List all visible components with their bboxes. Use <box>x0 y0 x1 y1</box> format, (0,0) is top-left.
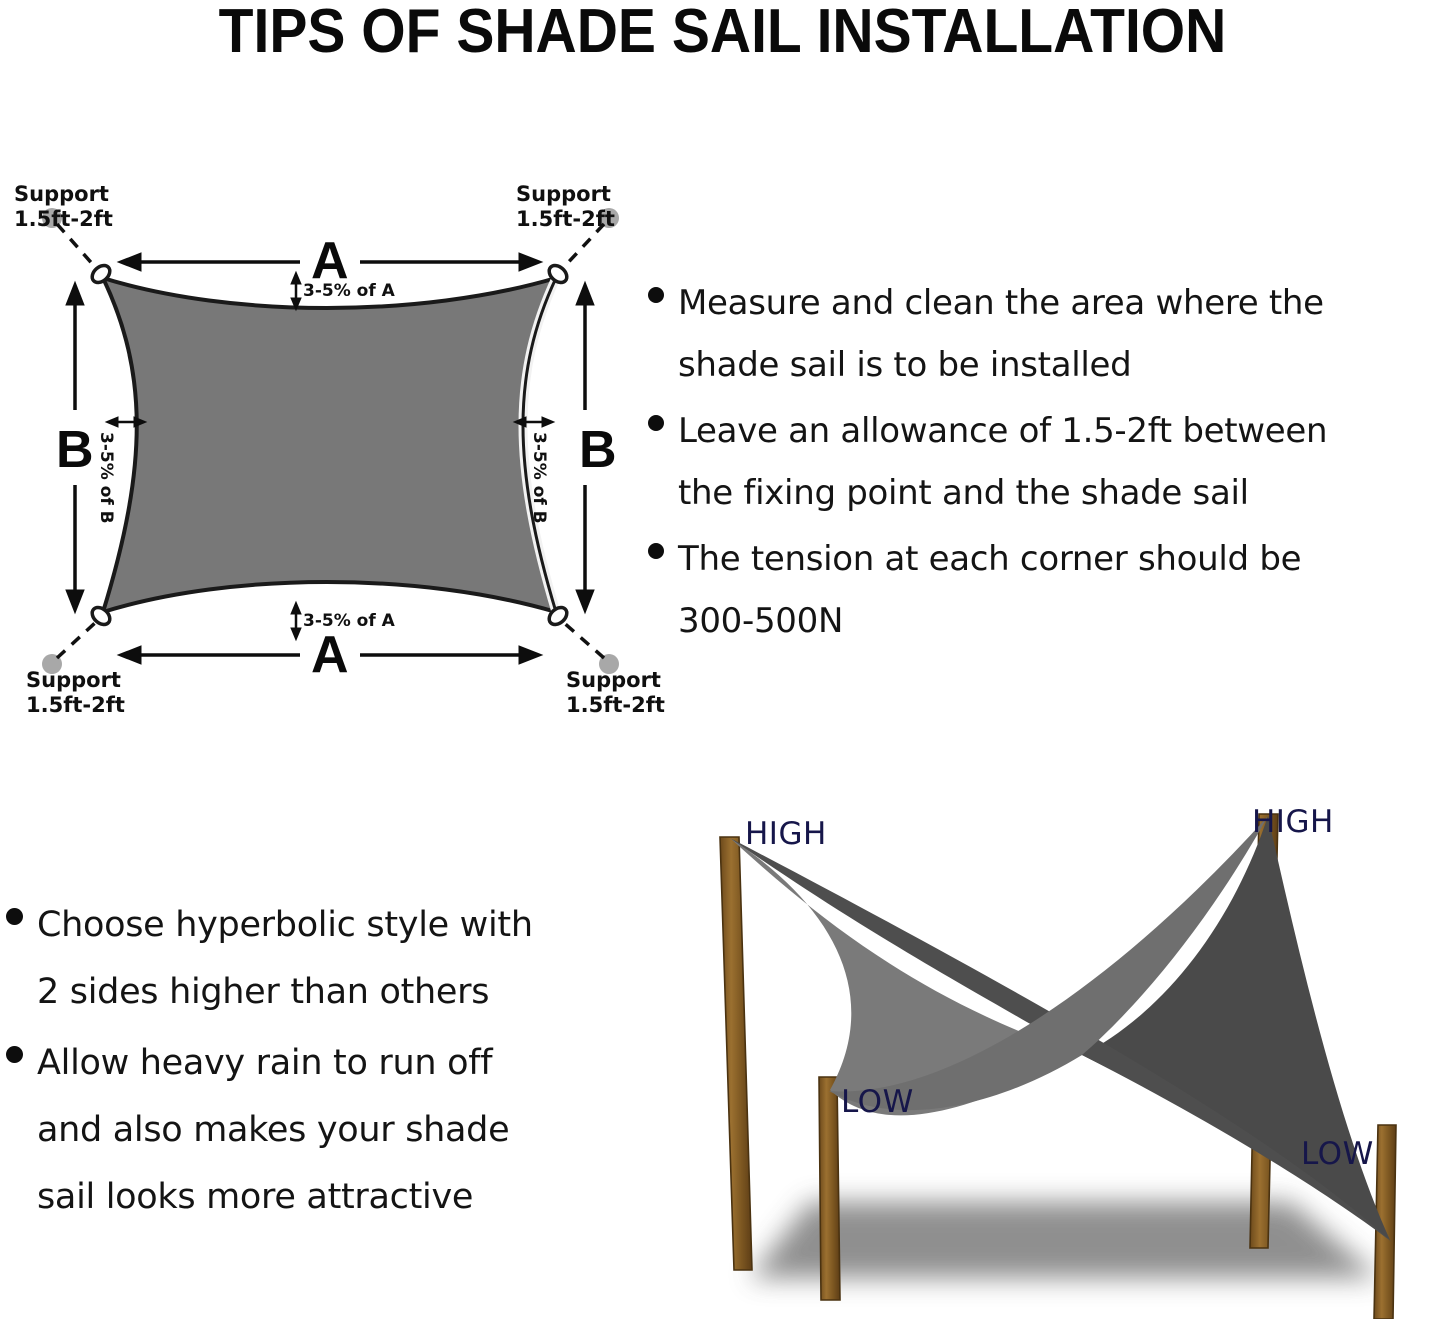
support-label-line1: Support <box>14 182 109 206</box>
label-low-right: LOW <box>1301 1136 1374 1172</box>
sag-arrow-top <box>291 272 301 310</box>
hyperbolic-style-tips-list: Choose hyperbolic style with2 sides high… <box>6 892 636 1235</box>
support-label-line2: 1.5ft-2ft <box>14 207 113 232</box>
list-item-text: Choose hyperbolic style with2 sides high… <box>37 892 533 1026</box>
list-item-text: Measure and clean the area where theshad… <box>678 272 1324 396</box>
support-label-line1: Support <box>516 182 611 206</box>
dim-letter-b-right: B <box>579 424 617 476</box>
sail-body <box>103 278 556 612</box>
sag-arrow-bottom <box>291 602 301 640</box>
bullet-dot-icon <box>6 1046 23 1063</box>
post-low-left <box>819 1077 840 1300</box>
list-item: The tension at each corner should be300-… <box>648 528 1445 652</box>
post-high-left <box>720 837 752 1270</box>
label-low-left: LOW <box>841 1084 914 1120</box>
pct-label-right: 3-5% of B <box>530 432 547 524</box>
list-item-text: The tension at each corner should be300-… <box>678 528 1301 652</box>
ground-shadow <box>750 1202 1380 1278</box>
dim-letter-b-left: B <box>56 424 94 476</box>
support-label-bottom-right: Support 1.5ft-2ft <box>566 668 665 718</box>
support-label-line2: 1.5ft-2ft <box>566 693 665 718</box>
pct-label-top: 3-5% of A <box>303 283 395 300</box>
bullet-dot-icon <box>648 415 664 431</box>
list-item-text: Leave an allowance of 1.5-2ft betweenthe… <box>678 400 1327 524</box>
support-label-top-left: Support 1.5ft-2ft <box>14 182 113 232</box>
dim-letter-a-top: A <box>311 235 349 287</box>
list-item: Choose hyperbolic style with2 sides high… <box>6 892 636 1026</box>
label-high-right: HIGH <box>1252 804 1334 840</box>
label-high-left: HIGH <box>745 816 827 852</box>
list-item: Measure and clean the area where theshad… <box>648 272 1445 396</box>
support-label-line1: Support <box>566 668 661 692</box>
support-label-line2: 1.5ft-2ft <box>516 207 615 232</box>
list-item: Allow heavy rain to run offand also make… <box>6 1030 636 1231</box>
support-label-top-right: Support 1.5ft-2ft <box>516 182 615 232</box>
support-label-line2: 1.5ft-2ft <box>26 693 125 718</box>
support-label-bottom-left: Support 1.5ft-2ft <box>26 668 125 718</box>
pct-label-bottom: 3-5% of A <box>303 613 395 630</box>
list-item-text: Allow heavy rain to run offand also make… <box>37 1030 509 1231</box>
support-label-line1: Support <box>26 668 121 692</box>
pct-label-left: 3-5% of B <box>97 432 114 524</box>
bullet-dot-icon <box>648 287 664 303</box>
sail-panel-dark <box>1082 816 1390 1240</box>
infographic-page: TIPS OF SHADE SAIL INSTALLATION <box>0 0 1445 1319</box>
bullet-dot-icon <box>6 908 23 925</box>
hyperbolic-sail-diagram <box>690 800 1445 1319</box>
dim-letter-a-bottom: A <box>311 629 349 681</box>
bullet-dot-icon <box>648 543 664 559</box>
installation-tips-list: Measure and clean the area where theshad… <box>648 272 1445 656</box>
page-title: TIPS OF SHADE SAIL INSTALLATION <box>58 0 1387 67</box>
list-item: Leave an allowance of 1.5-2ft betweenthe… <box>648 400 1445 524</box>
